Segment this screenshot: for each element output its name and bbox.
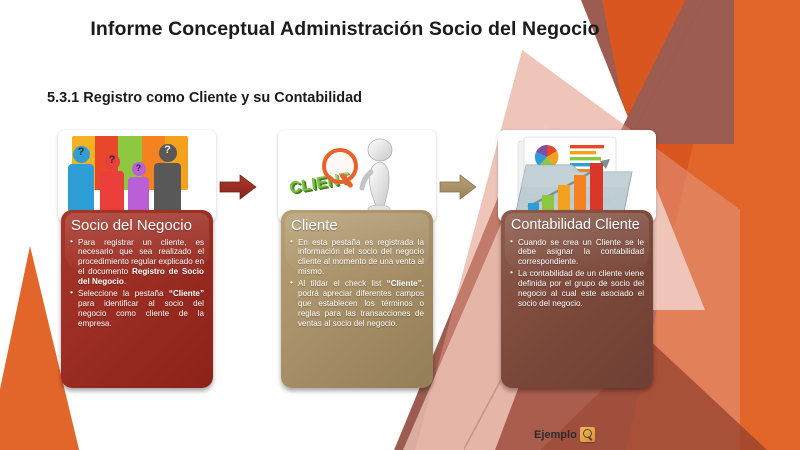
list-item: Al tildar el check list “Cliente”, podrá…	[290, 279, 424, 329]
question-mark-glyph: ?	[164, 145, 171, 156]
person-gray: ?	[154, 144, 181, 220]
list-item: Cuando se crea un Cliente se le debe asi…	[510, 238, 644, 268]
four-people-question-marks-image: ? ? ? ?	[58, 130, 216, 222]
step-card-3-bullets: Cuando se crea un Cliente se le debe asi…	[510, 238, 644, 309]
section-title: 5.3.1 Registro como Cliente y su Contabi…	[47, 90, 362, 106]
question-mark-glyph: ?	[136, 163, 142, 174]
step-card-3: Contabilidad Cliente Cuando se crea un C…	[501, 210, 653, 388]
list-item: En esta pestaña es registrada la informa…	[290, 238, 424, 278]
arrow-step1-to-step2	[218, 172, 258, 202]
person-blue: ?	[68, 146, 94, 220]
slide: Informe Conceptual Administración Socio …	[0, 0, 800, 450]
client-magnifier-figure-image: CLIENT	[278, 130, 436, 222]
step-card-3-heading: Contabilidad Cliente	[511, 218, 644, 234]
list-item: Seleccione la pestaña “Cliente” para ide…	[70, 289, 204, 329]
process-diagram: ? ? ? ?	[0, 130, 800, 420]
page-title: Informe Conceptual Administración Socio …	[0, 18, 690, 41]
white-3d-figure-icon	[358, 138, 402, 214]
folder-charts-image	[498, 130, 656, 222]
question-mark-glyph: ?	[109, 155, 116, 166]
step-card-1: Socio del Negocio Para registrar un clie…	[61, 210, 213, 388]
step-card-2-bullets: En esta pestaña es registrada la informa…	[290, 238, 424, 329]
process-step-2: CLIENT Cliente	[278, 130, 438, 388]
magnifier-icon	[580, 427, 595, 442]
arrow-step2-to-step3	[438, 172, 478, 202]
question-mark-glyph: ?	[78, 147, 85, 158]
list-item: La contabilidad de un cliente viene defi…	[510, 269, 644, 309]
ejemplo-badge-label: Ejemplo	[534, 429, 577, 441]
folder-with-charts-icon	[514, 135, 640, 215]
step-card-2: Cliente En esta pestaña es registrada la…	[281, 210, 433, 388]
magnifier-icon	[322, 148, 356, 182]
step-card-2-heading: Cliente	[291, 218, 424, 234]
ejemplo-badge: Ejemplo	[534, 427, 595, 442]
process-step-1: ? ? ? ?	[58, 130, 218, 388]
step-card-1-bullets: Para registrar un cliente, es necesario …	[70, 238, 204, 329]
list-item: Para registrar un cliente, es necesario …	[70, 238, 204, 288]
step-card-1-heading: Socio del Negocio	[71, 218, 204, 234]
process-step-3: Contabilidad Cliente Cuando se crea un C…	[498, 130, 658, 388]
